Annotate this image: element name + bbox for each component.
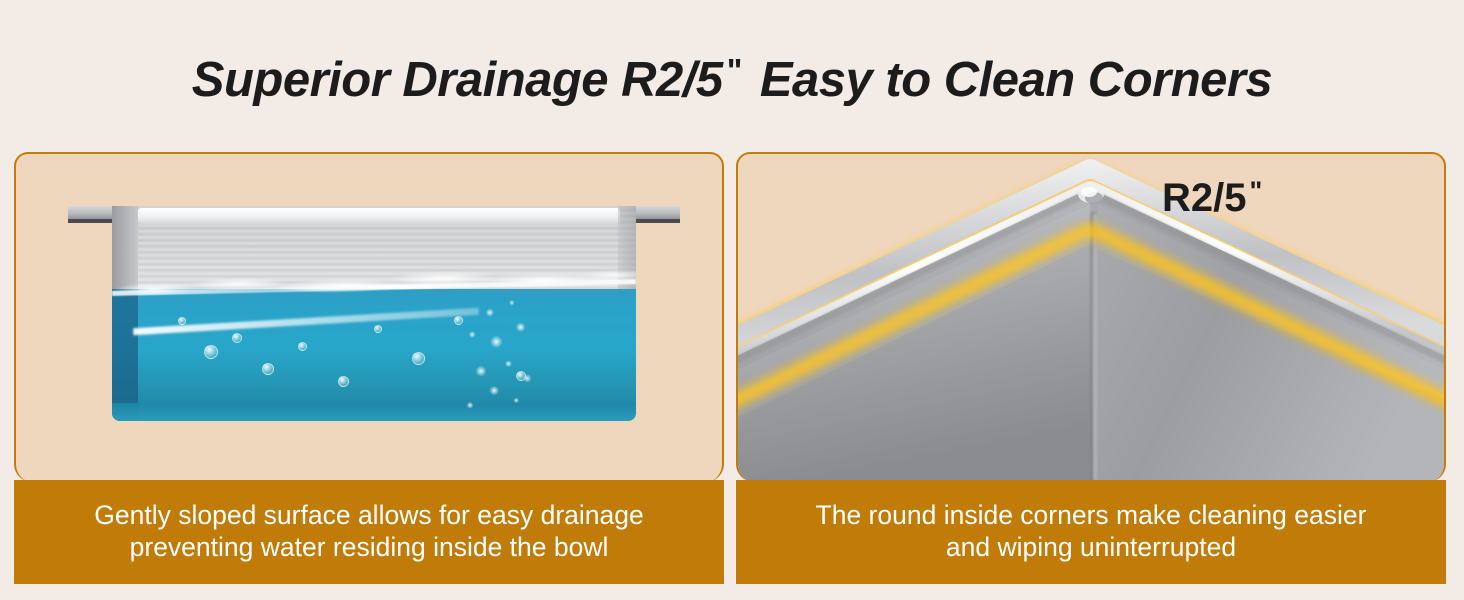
corner-illustration: R2/5" [736,152,1446,482]
caption-line-2: and wiping uninterrupted [946,532,1236,562]
bubble [262,363,274,375]
sink-rim-left-edge [68,219,114,223]
caption-line-2: preventing water residing inside the bow… [130,532,609,562]
bubble [516,371,526,381]
radius-label-value: R2/5 [1162,176,1247,220]
sink-cross-section-graphic [68,206,680,421]
sink-rim-left [68,206,114,220]
sink-corner-graphic [738,154,1444,480]
title-part-1: Superior Drainage R2/5 [192,53,723,107]
sink-bowl [112,206,636,421]
bubble [412,352,425,365]
infographic-page: Superior Drainage R2/5"Easy to Clean Cor… [0,0,1464,600]
bubble [374,325,382,333]
panel-corners: R2/5" [736,152,1446,584]
panel-drainage: Gently sloped surface allows for easy dr… [14,152,724,584]
bubble [298,342,307,351]
bubble [178,317,186,325]
steel-highlight [138,208,620,224]
title-inch-mark: " [723,52,744,89]
bubble-stream [448,293,558,415]
radius-label-inch-mark: " [1247,176,1263,206]
caption-corners: The round inside corners make cleaning e… [736,480,1446,584]
radius-label: R2/5" [1162,176,1262,221]
sink-rim-right [634,206,680,220]
caption-line-1: The round inside corners make cleaning e… [816,500,1367,530]
bubble [204,345,218,359]
drainage-illustration [14,152,724,482]
water-shadow-left [112,289,138,421]
bubble [454,316,463,325]
caption-line-1: Gently sloped surface allows for easy dr… [94,500,643,530]
bubble [338,376,349,387]
caption-drainage: Gently sloped surface allows for easy dr… [14,480,724,584]
sink-rim-right-edge [634,219,680,223]
bubble [232,333,242,343]
page-title: Superior Drainage R2/5"Easy to Clean Cor… [0,52,1464,108]
title-part-2: Easy to Clean Corners [760,53,1272,107]
